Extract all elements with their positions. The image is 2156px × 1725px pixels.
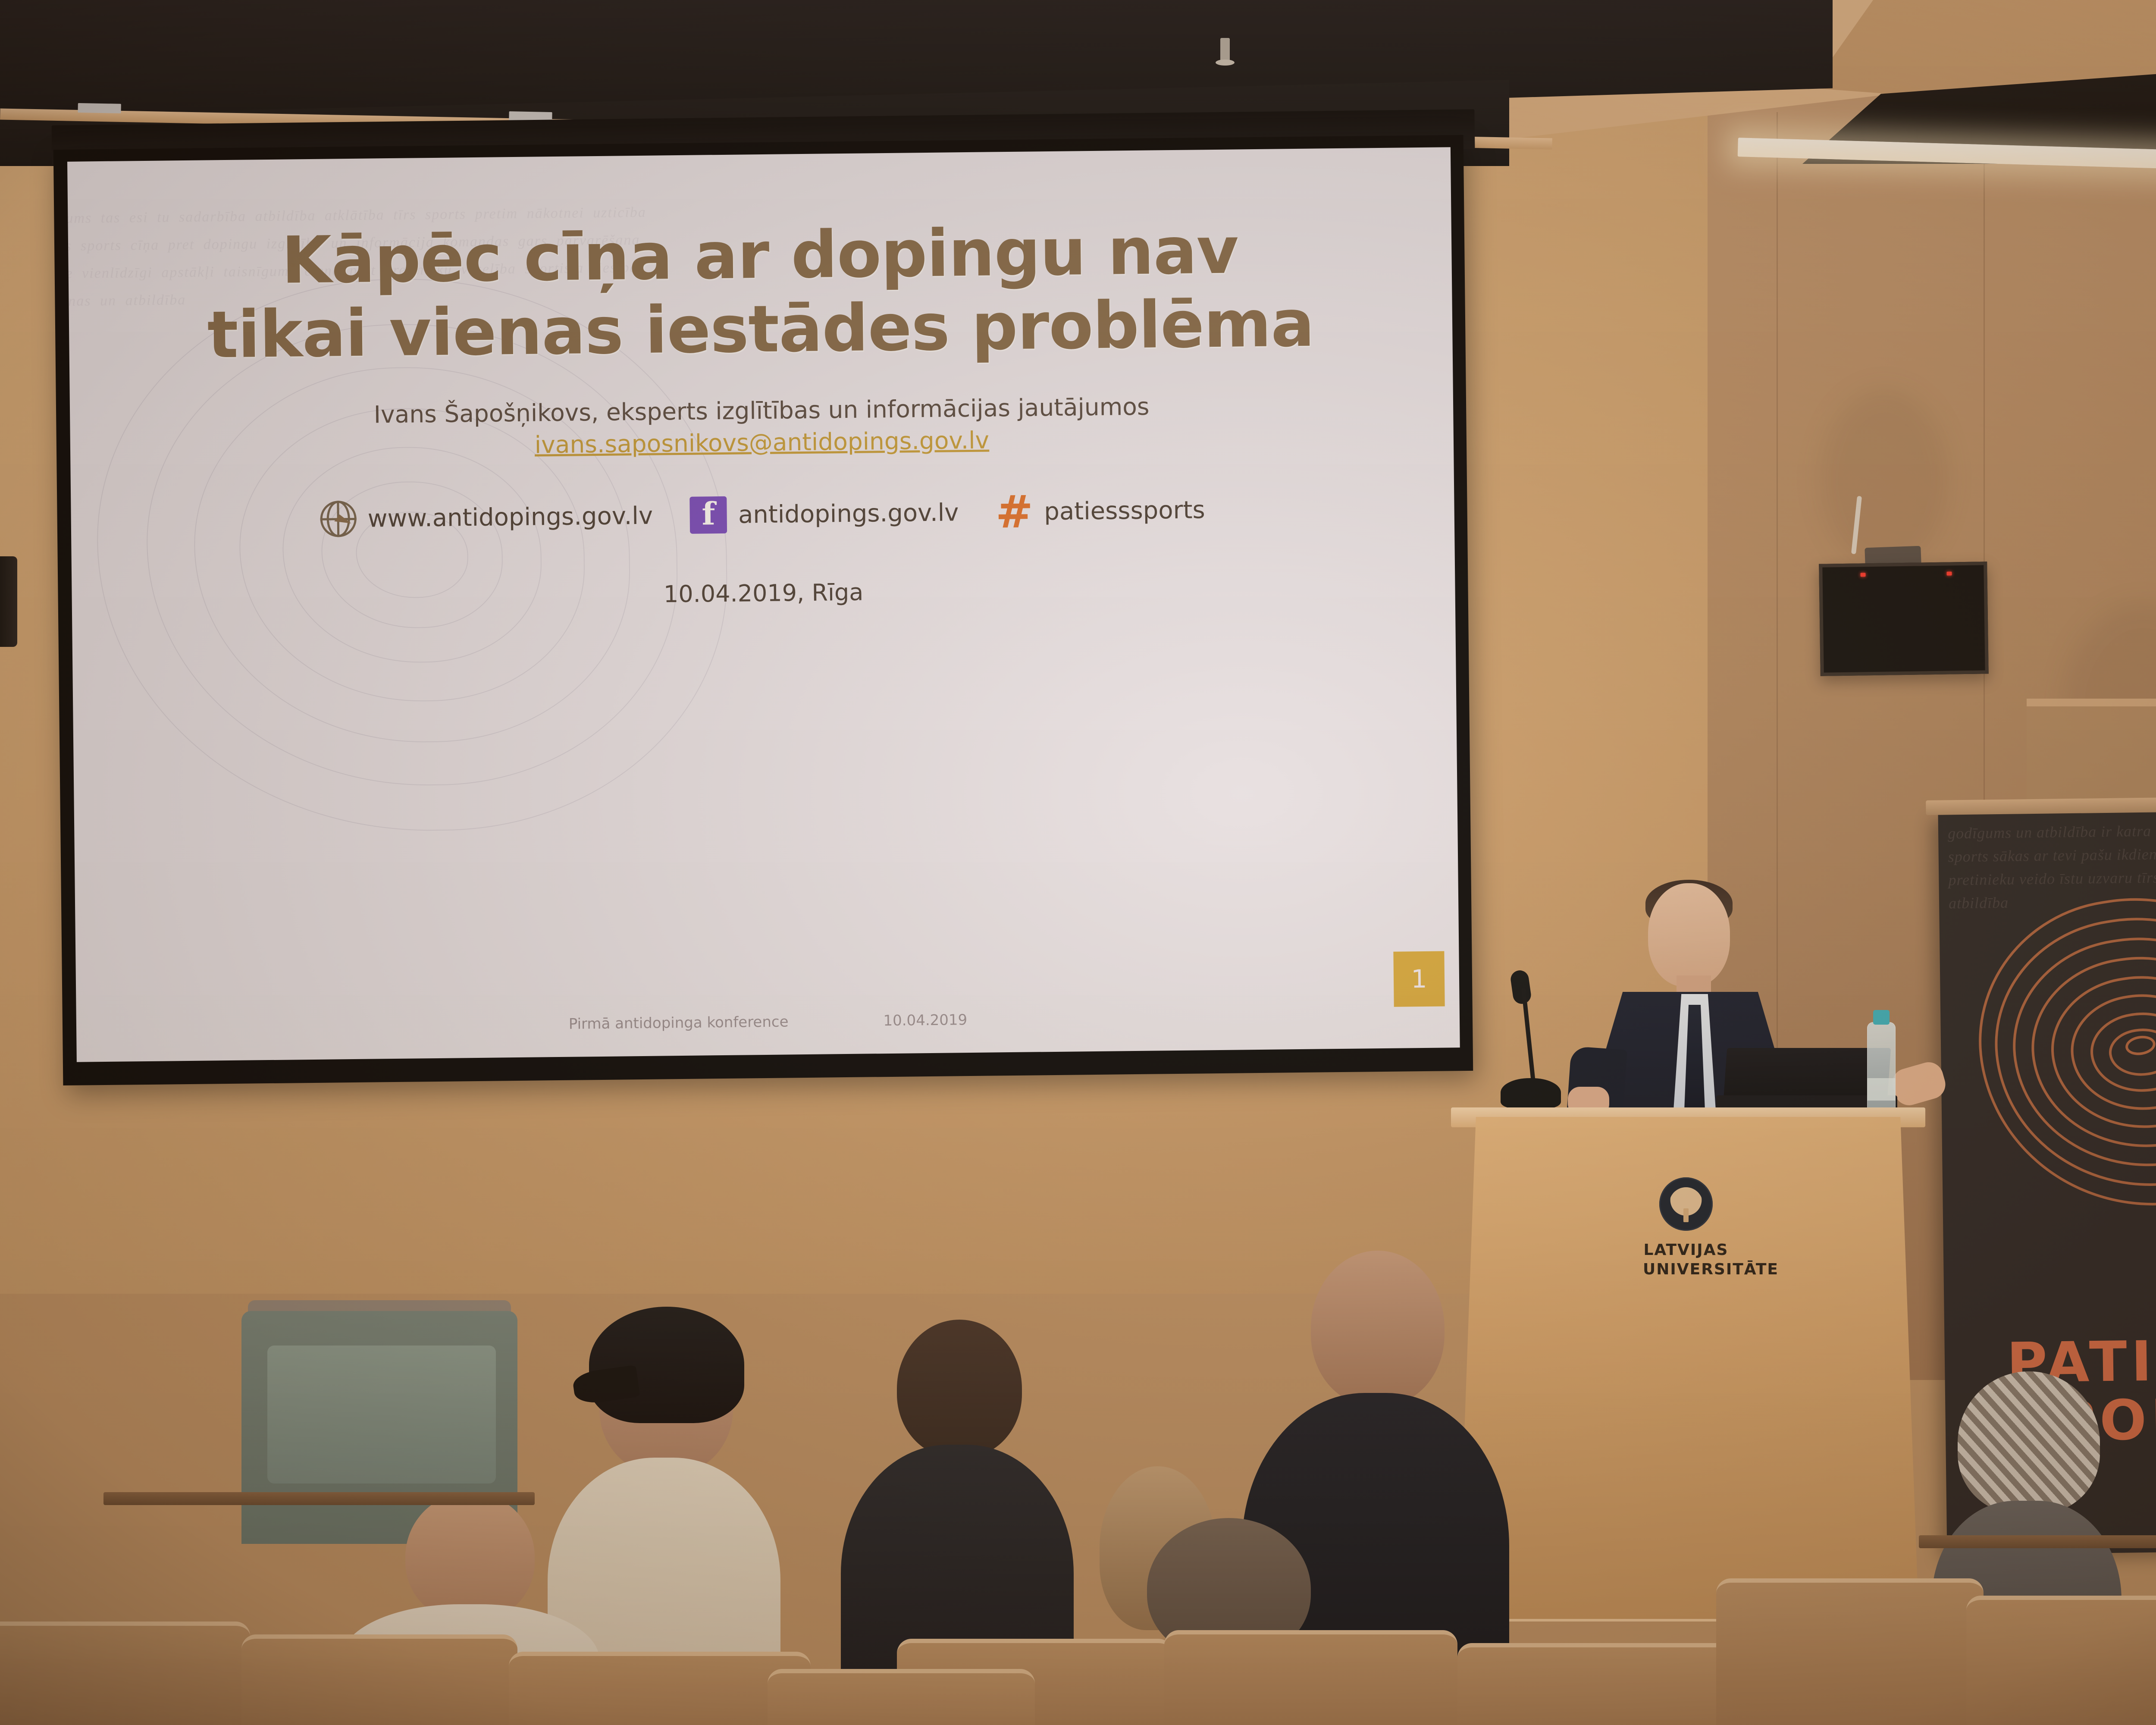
wall-speaker <box>0 556 17 647</box>
slide-title-line-2: tikai vienas iestādes problēma <box>207 286 1314 373</box>
slide-title: Kāpēc cīņa ar dopingu nav tikai vienas i… <box>150 213 1371 373</box>
university-name-line-1: LATVIJAS <box>1643 1241 1728 1259</box>
social-item-website[interactable]: www.antidopings.gov.lv <box>320 498 653 537</box>
globe-icon <box>320 501 357 537</box>
wall-tv <box>1819 561 1989 676</box>
seat-row-front-5 <box>1457 1643 1742 1725</box>
lecture-hall-photo: Godīgums tas esi tu sadarbība atbildība … <box>0 0 2156 1725</box>
water-bottle <box>1867 1022 1896 1121</box>
water-bottle-cap <box>1873 1010 1890 1025</box>
attendee-cap-hat <box>589 1307 744 1423</box>
attendee-dark-shirt-head <box>897 1320 1022 1458</box>
facebook-icon: f <box>690 496 727 534</box>
seat-row-back-1 <box>509 1652 811 1725</box>
sprinkler-head <box>1220 38 1230 63</box>
desk-rail-back <box>103 1492 535 1505</box>
seat-row-front-4 <box>1164 1630 1457 1725</box>
university-name-line-2: UNIVERSITĀTE <box>1643 1261 1779 1278</box>
university-logo: LATVIJAS UNIVERSITĀTE <box>1643 1177 1729 1279</box>
social-item-facebook[interactable]: f antidopings.gov.lv <box>690 494 959 534</box>
slide-title-line-1: Kāpēc cīņa ar dopingu nav <box>281 213 1239 298</box>
slide-social-row: www.antidopings.gov.lv f antidopings.gov… <box>153 489 1373 539</box>
slide-number-badge: 1 <box>1393 951 1445 1007</box>
attendee-light-shirt-head <box>1311 1251 1445 1406</box>
seat-row-back-2 <box>768 1669 1035 1725</box>
seat-row-front-2 <box>241 1634 517 1725</box>
social-item-hashtag[interactable]: # patiesssports <box>996 491 1205 530</box>
projection-screen: Godīgums tas esi tu sadarbība atbildība … <box>53 135 1473 1085</box>
seat-row-front-1 <box>0 1621 250 1725</box>
university-name: LATVIJAS UNIVERSITĀTE <box>1643 1240 1729 1279</box>
hashtag-icon: # <box>996 493 1033 530</box>
seat-row-mid-2 <box>1966 1596 2156 1725</box>
seat-row-mid-1 <box>1716 1578 1984 1725</box>
attendee-patterned-head <box>1958 1371 2100 1514</box>
social-label-hashtag: patiesssports <box>1044 496 1205 526</box>
slide-footer-conference: Pirmā antidopinga konference <box>569 1013 789 1032</box>
slide-footer-date: 10.04.2019 <box>883 1011 967 1029</box>
desk-rail-mid <box>1919 1535 2156 1548</box>
fingerprint-graphic <box>1962 860 2156 1244</box>
social-label-website: www.antidopings.gov.lv <box>367 502 653 533</box>
slide-date-place: 10.04.2019, Rīga <box>154 573 1373 613</box>
slide-canvas: Godīgums tas esi tu sadarbība atbildība … <box>67 147 1460 1062</box>
water-bottle-label <box>1867 1078 1896 1101</box>
attendee-short-hair-head <box>405 1492 535 1621</box>
microphone-base <box>1501 1078 1561 1108</box>
speaker-head <box>1648 883 1730 987</box>
sofa-cushion <box>267 1345 496 1483</box>
university-seal-icon <box>1659 1177 1713 1231</box>
social-label-facebook: antidopings.gov.lv <box>738 499 959 529</box>
